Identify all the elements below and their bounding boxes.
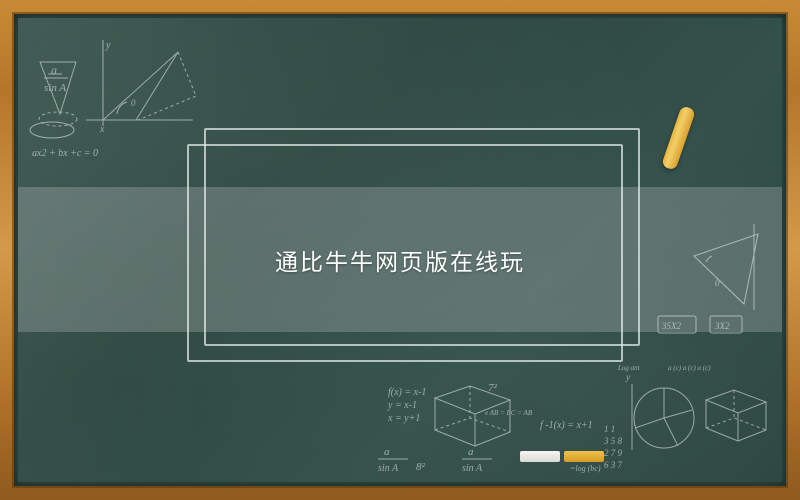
- svg-text:sin A: sin A: [378, 463, 399, 474]
- svg-text:f(x) = x-1: f(x) = x-1: [388, 387, 426, 398]
- svg-text:a: a: [468, 446, 474, 458]
- svg-text:8²: 8²: [416, 461, 426, 473]
- svg-text:y: y: [625, 372, 630, 382]
- svg-text:y = x-1: y = x-1: [387, 400, 417, 411]
- svg-text:a (c) a (c) a (c): a (c) a (c) a (c): [668, 364, 711, 372]
- chalkboard-surface: a sin A y x 0 ax2 + bx +c = 0 f(x) = x-1…: [18, 18, 782, 482]
- svg-text:x: x: [99, 124, 105, 135]
- svg-text:6 3 7: 6 3 7: [604, 460, 623, 470]
- svg-text:y: y: [105, 40, 111, 51]
- svg-text:0: 0: [131, 98, 136, 108]
- svg-text:f -1(x) = x+1: f -1(x) = x+1: [540, 420, 593, 431]
- svg-text:a: a: [51, 63, 57, 77]
- yellow-chalk-piece-icon: [564, 451, 604, 462]
- svg-text:7²: 7²: [488, 382, 498, 394]
- svg-text:sin A: sin A: [462, 463, 483, 474]
- svg-text:1 1: 1 1: [604, 424, 615, 434]
- svg-text:3 5 8: 3 5 8: [603, 436, 623, 446]
- svg-text:=log (bc): =log (bc): [570, 464, 601, 473]
- svg-text:a: a: [384, 446, 390, 458]
- svg-text:ax2 + bx +c = 0: ax2 + bx +c = 0: [32, 148, 98, 159]
- chalkboard-banner: a sin A y x 0 ax2 + bx +c = 0 f(x) = x-1…: [0, 0, 800, 500]
- svg-text:2 7 9: 2 7 9: [604, 448, 623, 458]
- svg-text:e AB = BC = AB: e AB = BC = AB: [485, 409, 533, 417]
- page-title: 通比牛牛网页版在线玩: [18, 187, 782, 332]
- svg-text:sin A: sin A: [44, 82, 66, 94]
- svg-text:Log ant: Log ant: [617, 364, 641, 372]
- white-chalk-piece-icon: [520, 451, 560, 462]
- svg-text:x = y+1: x = y+1: [387, 413, 420, 424]
